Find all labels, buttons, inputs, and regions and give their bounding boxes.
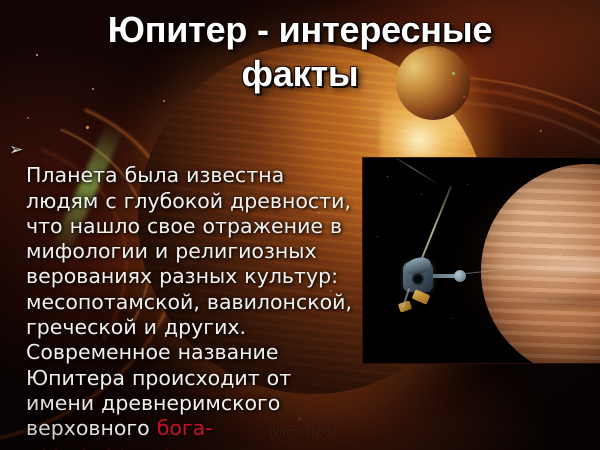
presentation-slide: Юпитер - интересные факты ➢ Планета была… xyxy=(0,0,600,450)
bullet-paragraph: ➢ Планета была известна людям с глубокой… xyxy=(6,138,358,450)
photo-star-point xyxy=(377,236,378,237)
body-text: Планета была известна людям с глубокой д… xyxy=(26,138,358,450)
inset-planet-belt-light xyxy=(481,258,600,274)
spacecraft-instrument-arm xyxy=(431,274,459,278)
photo-star-point xyxy=(421,194,422,195)
photo-star-point xyxy=(467,184,468,185)
watermark-text: Worm Dgrl xyxy=(0,424,600,439)
inset-planet-belt-dark xyxy=(481,297,600,307)
star-point xyxy=(86,126,89,129)
body-text-main: Планета была известна людям с глубокой д… xyxy=(26,163,352,440)
watermark-dot xyxy=(298,417,301,420)
spacecraft-aperture xyxy=(412,273,424,285)
star-point xyxy=(463,96,465,98)
arrow-bullet-icon: ➢ xyxy=(6,138,26,163)
photo-star-point xyxy=(451,318,452,319)
star-point xyxy=(36,54,38,56)
photo-star-point xyxy=(387,176,388,177)
spacecraft-photo xyxy=(363,158,600,363)
star-point xyxy=(27,117,29,119)
page-title: Юпитер - интересные факты xyxy=(40,8,560,96)
star-point xyxy=(163,100,165,102)
star-point xyxy=(540,130,542,132)
